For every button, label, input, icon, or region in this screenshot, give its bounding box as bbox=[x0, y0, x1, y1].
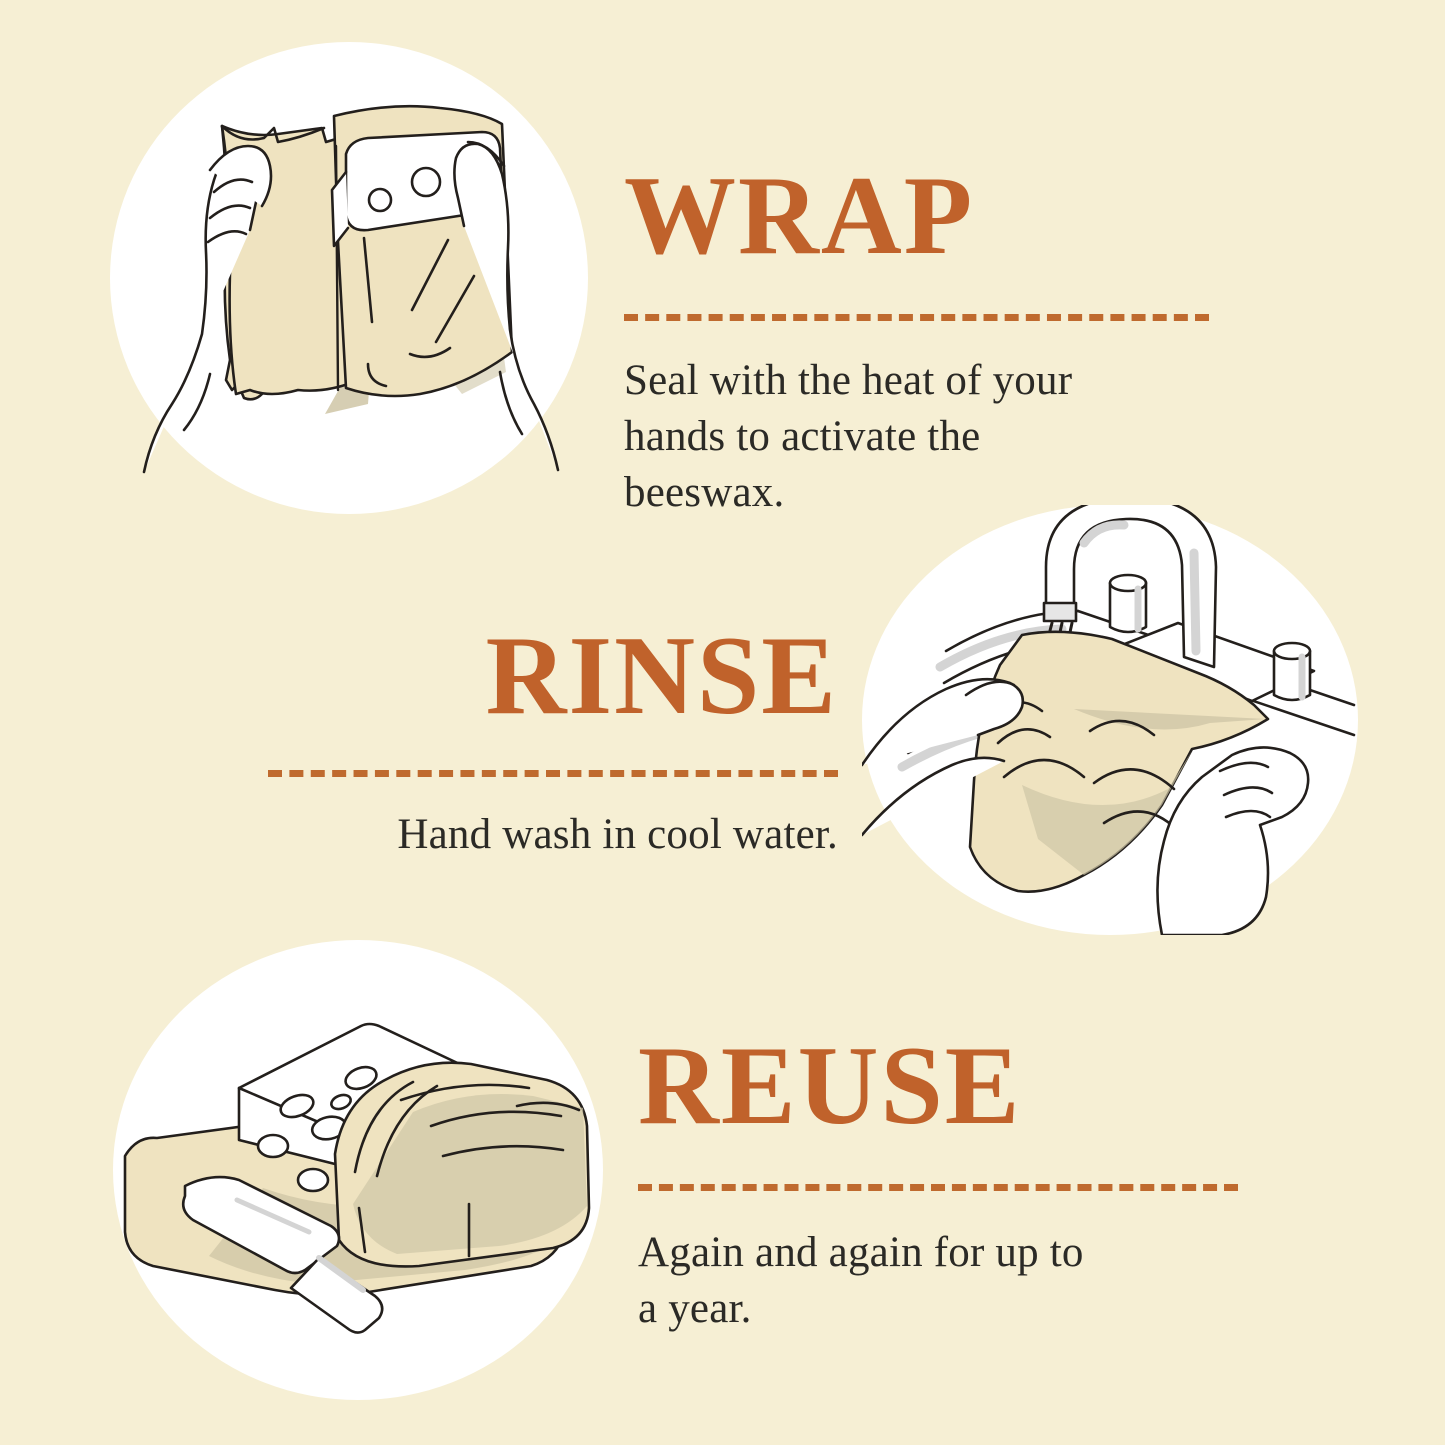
step-reuse-text-block: REUSE Again and again for up to a year. bbox=[638, 1030, 1238, 1337]
step-rinse-heading: RINSE bbox=[268, 620, 838, 732]
body-line: Seal with the heat of your bbox=[624, 353, 1204, 409]
step-reuse-body: Again and again for up to a year. bbox=[638, 1225, 1226, 1337]
hands-wrapping-sandwich-illustration bbox=[110, 42, 588, 514]
body-line: a year. bbox=[638, 1281, 1226, 1337]
body-line: Again and again for up to bbox=[638, 1225, 1226, 1281]
step-rinse-body: Hand wash in cool water. bbox=[268, 807, 838, 863]
body-line: Hand wash in cool water. bbox=[268, 807, 838, 863]
infographic-canvas: WRAP Seal with the heat of your hands to… bbox=[0, 0, 1445, 1445]
step-wrap-text-block: WRAP Seal with the heat of your hands to… bbox=[624, 160, 1209, 521]
step-reuse-divider bbox=[638, 1184, 1238, 1191]
body-line: hands to activate the bbox=[624, 409, 1204, 465]
step-wrap-heading: WRAP bbox=[624, 160, 1209, 272]
step-wrap-body: Seal with the heat of your hands to acti… bbox=[624, 353, 1204, 521]
step-reuse-heading: REUSE bbox=[638, 1030, 1238, 1142]
step-rinse-text-block: RINSE Hand wash in cool water. bbox=[268, 620, 838, 863]
hands-rinsing-wrap-under-faucet-illustration bbox=[862, 505, 1358, 935]
step-wrap-divider bbox=[624, 314, 1209, 321]
cheese-block-wrapped-with-knife-illustration bbox=[113, 940, 603, 1400]
step-rinse-divider bbox=[268, 770, 838, 777]
